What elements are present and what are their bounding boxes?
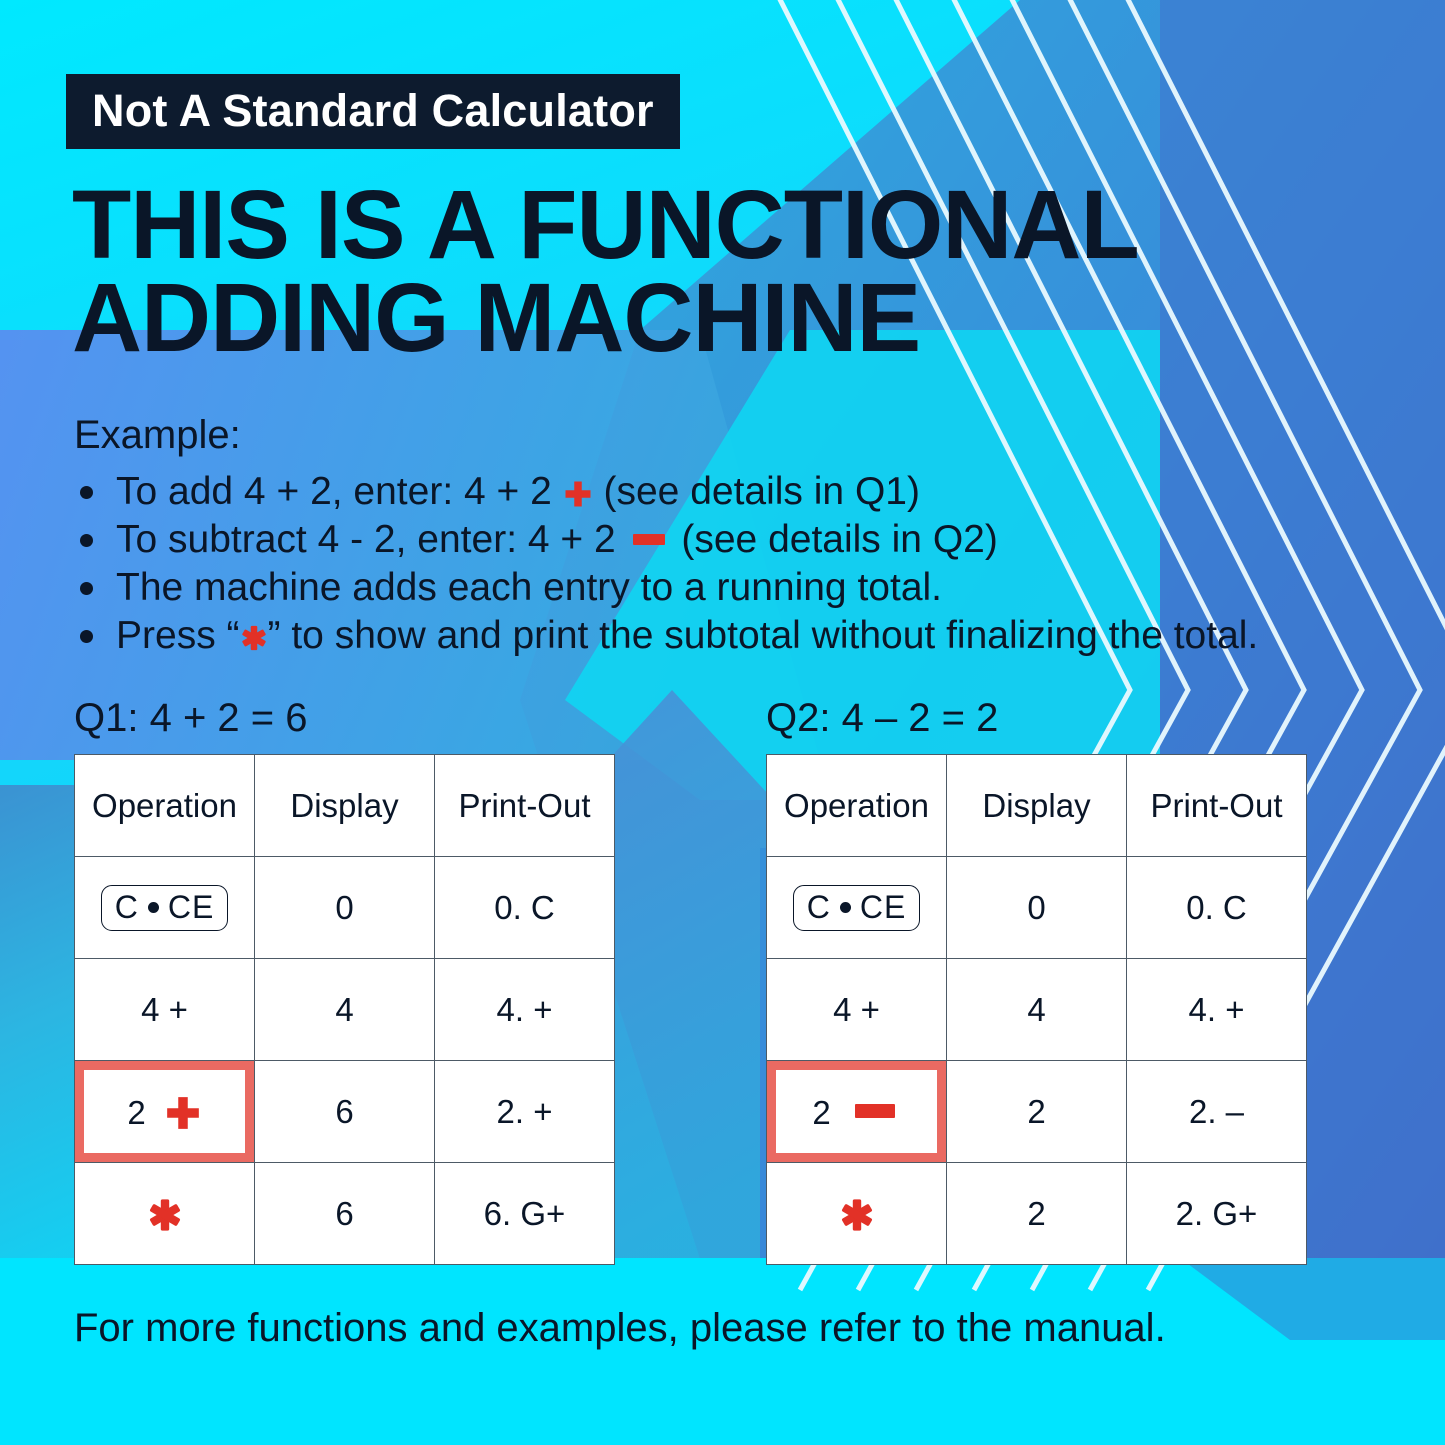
plus-icon	[164, 1094, 202, 1132]
minus-icon	[855, 1104, 895, 1118]
operation-cell-highlighted: 2	[75, 1061, 255, 1163]
printout-cell: 0. C	[435, 857, 615, 959]
clear-entry-key[interactable]: CCE	[793, 885, 921, 931]
display-cell: 2	[947, 1061, 1127, 1163]
printout-cell: 0. C	[1127, 857, 1307, 959]
column-header-display: Display	[255, 755, 435, 857]
bullet-dot-icon	[80, 630, 93, 643]
eyebrow-badge: Not A Standard Calculator	[66, 74, 680, 149]
example-bullet-item: The machine adds each entry to a running…	[74, 564, 1404, 612]
printout-cell: 2. –	[1127, 1061, 1307, 1163]
page-title: THIS IS A FUNCTIONAL ADDING MACHINE	[72, 178, 1362, 364]
table-row: 4 +44. +	[767, 959, 1307, 1061]
display-cell: 6	[255, 1061, 435, 1163]
footer-note: For more functions and examples, please …	[74, 1308, 1166, 1348]
bullet-text-post: (see details in Q1)	[593, 470, 920, 513]
bullet-dot-icon	[80, 486, 93, 499]
operation-cell: 4 +	[767, 959, 947, 1061]
table-row: 66. G+	[75, 1163, 615, 1265]
operation-label: 2	[127, 1094, 145, 1132]
operation-cell-highlighted: 2	[767, 1061, 947, 1163]
printout-cell: 4. +	[435, 959, 615, 1061]
bullet-dot-icon	[80, 534, 93, 547]
printout-cell: 6. G+	[435, 1163, 615, 1265]
display-cell: 4	[947, 959, 1127, 1061]
clear-entry-key[interactable]: CCE	[101, 885, 229, 931]
column-header-operation: Operation	[75, 755, 255, 857]
clear-entry-key-label: CE	[860, 889, 906, 925]
q2-title: Q2: 4 – 2 = 2	[766, 698, 998, 738]
display-cell: 0	[947, 857, 1127, 959]
infographic-poster: Not A Standard Calculator THIS IS A FUNC…	[0, 0, 1445, 1445]
column-header-operation: Operation	[767, 755, 947, 857]
clear-entry-key-label: CE	[168, 889, 214, 925]
q1-title: Q1: 4 + 2 = 6	[74, 698, 308, 738]
table-row: 222. –	[767, 1061, 1307, 1163]
bullet-text-pre: To add 4 + 2, enter: 4 + 2	[116, 470, 563, 513]
printout-cell: 4. +	[1127, 959, 1307, 1061]
asterisk-icon	[240, 624, 268, 652]
example-bullet-item: Press “” to show and print the subtotal …	[74, 612, 1404, 660]
example-bullet-list: To add 4 + 2, enter: 4 + 2 (see details …	[74, 468, 1404, 660]
table-row: 4 +44. +	[75, 959, 615, 1061]
operation-cell: 4 +	[75, 959, 255, 1061]
display-cell: 0	[255, 857, 435, 959]
asterisk-icon	[147, 1197, 183, 1233]
operation-cell: CCE	[75, 857, 255, 959]
separator-dot-icon	[148, 902, 159, 913]
printout-cell: 2. +	[435, 1061, 615, 1163]
q2-table: OperationDisplayPrint-Out CCE00. C4 +44.…	[766, 754, 1307, 1265]
column-header-print-out: Print-Out	[1127, 755, 1307, 857]
table-row: CCE00. C	[75, 857, 615, 959]
example-bullet-item: To add 4 + 2, enter: 4 + 2 (see details …	[74, 468, 1404, 516]
bullet-text-pre: To subtract 4 - 2, enter: 4 + 2	[116, 518, 627, 561]
operation-label: 2	[812, 1094, 830, 1132]
display-cell: 6	[255, 1163, 435, 1265]
printout-cell: 2. G+	[1127, 1163, 1307, 1265]
asterisk-icon	[839, 1197, 875, 1233]
bullet-dot-icon	[80, 582, 93, 595]
display-cell: 4	[255, 959, 435, 1061]
operation-cell: CCE	[767, 857, 947, 959]
minus-icon	[633, 534, 665, 545]
table-row: 262. +	[75, 1061, 615, 1163]
separator-dot-icon	[840, 902, 851, 913]
bullet-text-post: ” to show and print the subtotal without…	[268, 614, 1259, 657]
table-row: 22. G+	[767, 1163, 1307, 1265]
column-header-print-out: Print-Out	[435, 755, 615, 857]
operation-cell	[75, 1163, 255, 1265]
clear-key-label: C	[807, 889, 831, 925]
example-label: Example:	[74, 415, 241, 455]
bullet-text-pre: Press “	[116, 614, 240, 657]
clear-key-label: C	[115, 889, 139, 925]
plus-icon	[563, 479, 593, 509]
bullet-text-post: (see details in Q2)	[671, 518, 998, 561]
example-bullet-item: To subtract 4 - 2, enter: 4 + 2 (see det…	[74, 516, 1404, 564]
display-cell: 2	[947, 1163, 1127, 1265]
operation-cell	[767, 1163, 947, 1265]
table-row: CCE00. C	[767, 857, 1307, 959]
table-header-row: OperationDisplayPrint-Out	[75, 755, 615, 857]
operation-label: 4 +	[141, 991, 188, 1028]
table-header-row: OperationDisplayPrint-Out	[767, 755, 1307, 857]
q1-table: OperationDisplayPrint-Out CCE00. C4 +44.…	[74, 754, 615, 1265]
bullet-text-pre: The machine adds each entry to a running…	[116, 566, 942, 609]
column-header-display: Display	[947, 755, 1127, 857]
operation-label: 4 +	[833, 991, 880, 1028]
